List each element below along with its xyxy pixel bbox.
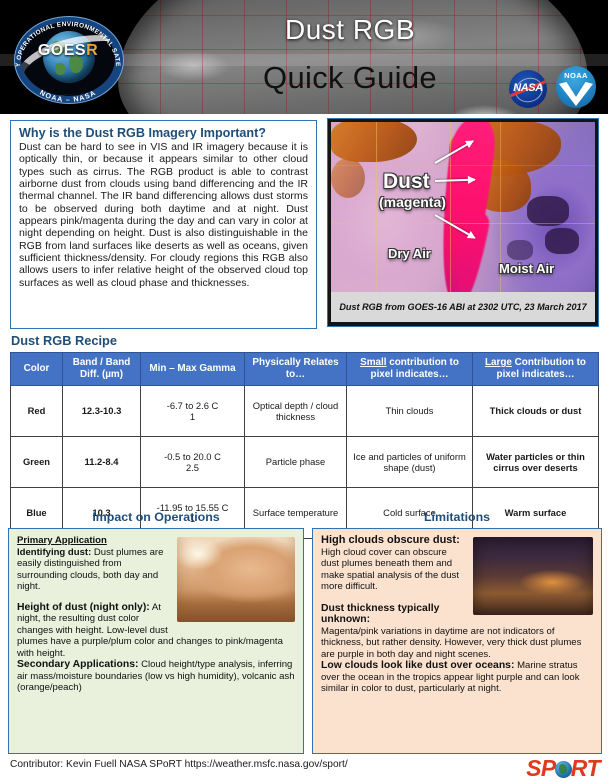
cell-minmax-red: -6.7 to 2.6 C1 [141, 386, 245, 437]
impact-item-secondary: Secondary Applications: Cloud height/typ… [17, 659, 295, 694]
label-dust-color: (magenta) [379, 194, 446, 210]
page-header: GEOSTATIONARY OPERATIONAL ENVIRONMENTAL … [0, 0, 608, 114]
sport-logo: SPRT [526, 755, 600, 782]
goes-r-arc-bottom-label: NOAA – NASA [38, 88, 97, 104]
sport-logo-part1: SP [526, 755, 556, 781]
nasa-wordmark: NASA [509, 82, 547, 94]
high-clouds-bold: High clouds obscure dust: [321, 534, 460, 546]
col-header-minmax-gamma: Min – Max Gamma [141, 353, 245, 386]
dust-storm-photo [177, 537, 295, 622]
noaa-logo: NOAA [556, 66, 596, 108]
table-row: Red 12.3-10.3 -6.7 to 2.6 C1 Optical dep… [11, 386, 599, 437]
cell-color-green: Green [11, 437, 63, 488]
dust-rgb-satellite-image: Dust (magenta) Dry Air Moist Air [331, 122, 595, 292]
noaa-wordmark: NOAA [556, 71, 596, 80]
height-of-dust-bold: Height of dust (night only): [17, 602, 150, 613]
small-underlined-word: Small [360, 357, 386, 368]
impact-section-title: Impact on Operations [8, 510, 304, 524]
minmax-green: -0.5 to 20.0 C [164, 451, 221, 462]
sport-logo-part2: RT [571, 755, 600, 781]
goes-r-accent-letter: R [86, 42, 98, 59]
gamma-red: 1 [190, 411, 195, 422]
intro-panel: Why is the Dust RGB Imagery Important? D… [10, 120, 317, 329]
intro-heading: Why is the Dust RGB Imagery Important? [19, 126, 308, 140]
satellite-image-caption: Dust RGB from GOES-16 ABI at 2302 UTC, 2… [331, 292, 595, 322]
goes-r-wordmark: GOESR [12, 42, 124, 60]
label-dry-air: Dry Air [388, 246, 431, 261]
sport-globe-icon [555, 761, 572, 778]
low-clouds-bold: Low clouds look like dust over oceans: [321, 660, 514, 671]
table-header-row: Color Band / Band Diff. (µm) Min – Max G… [11, 353, 599, 386]
col-header-physical: Physically Relates to… [245, 353, 347, 386]
large-underlined-word: Large [485, 357, 512, 368]
limitations-section-title: Limitations [312, 510, 602, 524]
cell-small-red: Thin clouds [347, 386, 473, 437]
goes-r-logo: GEOSTATIONARY OPERATIONAL ENVIRONMENTAL … [12, 8, 124, 108]
minmax-red: -6.7 to 2.6 C [167, 400, 219, 411]
noaa-seagull-icon [559, 82, 593, 106]
satellite-image-panel: Dust (magenta) Dry Air Moist Air Dust RG… [327, 118, 599, 327]
thickness-unknown-bold: Dust thickness typically unknown: [321, 603, 439, 626]
cell-band-green: 11.2-8.4 [63, 437, 141, 488]
page-title: Dust RGB [200, 14, 500, 46]
svg-text:NOAA – NASA: NOAA – NASA [38, 88, 97, 104]
primary-application-heading: Primary Application [17, 535, 107, 546]
cell-band-red: 12.3-10.3 [63, 386, 141, 437]
cell-physical-red: Optical depth / cloud thickness [245, 386, 347, 437]
label-moist-air: Moist Air [499, 261, 554, 276]
col-header-large-contribution: Large Contribution to pixel indicates… [473, 353, 599, 386]
night-dune-photo [473, 537, 593, 615]
col-header-small-contribution: Small contribution to pixel indicates… [347, 353, 473, 386]
cell-large-green: Water particles or thin cirrus over dese… [473, 437, 599, 488]
secondary-applications-bold: Secondary Applications: [17, 659, 138, 670]
identifying-dust-bold: Identifying dust: [17, 547, 91, 558]
table-row: Green 11.2-8.4 -0.5 to 20.0 C2.5 Particl… [11, 437, 599, 488]
limitation-item-low-clouds: Low clouds look like dust over oceans: M… [321, 660, 593, 695]
cell-minmax-green: -0.5 to 20.0 C2.5 [141, 437, 245, 488]
cell-small-green: Ice and particles of uniform shape (dust… [347, 437, 473, 488]
goes-r-word: GOES [38, 42, 86, 59]
cell-large-red: Thick clouds or dust [473, 386, 599, 437]
thickness-unknown-text: Magenta/pink variations in daytime are n… [321, 626, 581, 660]
page-subtitle: Quick Guide [180, 60, 520, 96]
label-dust: Dust [383, 170, 430, 194]
col-header-band: Band / Band Diff. (µm) [63, 353, 141, 386]
cell-physical-green: Particle phase [245, 437, 347, 488]
intro-body: Dust can be hard to see in VIS and IR im… [19, 141, 308, 289]
recipe-heading: Dust RGB Recipe [11, 333, 117, 348]
page-footer: Contributor: Kevin Fuell NASA SPoRT http… [0, 756, 608, 780]
impact-panel: Primary Application Identifying dust: Du… [8, 528, 304, 754]
col-header-color: Color [11, 353, 63, 386]
limitations-panel: High clouds obscure dust: High cloud cov… [312, 528, 602, 754]
cell-color-red: Red [11, 386, 63, 437]
gamma-green: 2.5 [186, 462, 199, 473]
contributor-line: Contributor: Kevin Fuell NASA SPoRT http… [10, 759, 348, 770]
nasa-logo: NASA [509, 70, 547, 108]
high-clouds-text: High cloud cover can obscure dust plumes… [321, 547, 459, 593]
